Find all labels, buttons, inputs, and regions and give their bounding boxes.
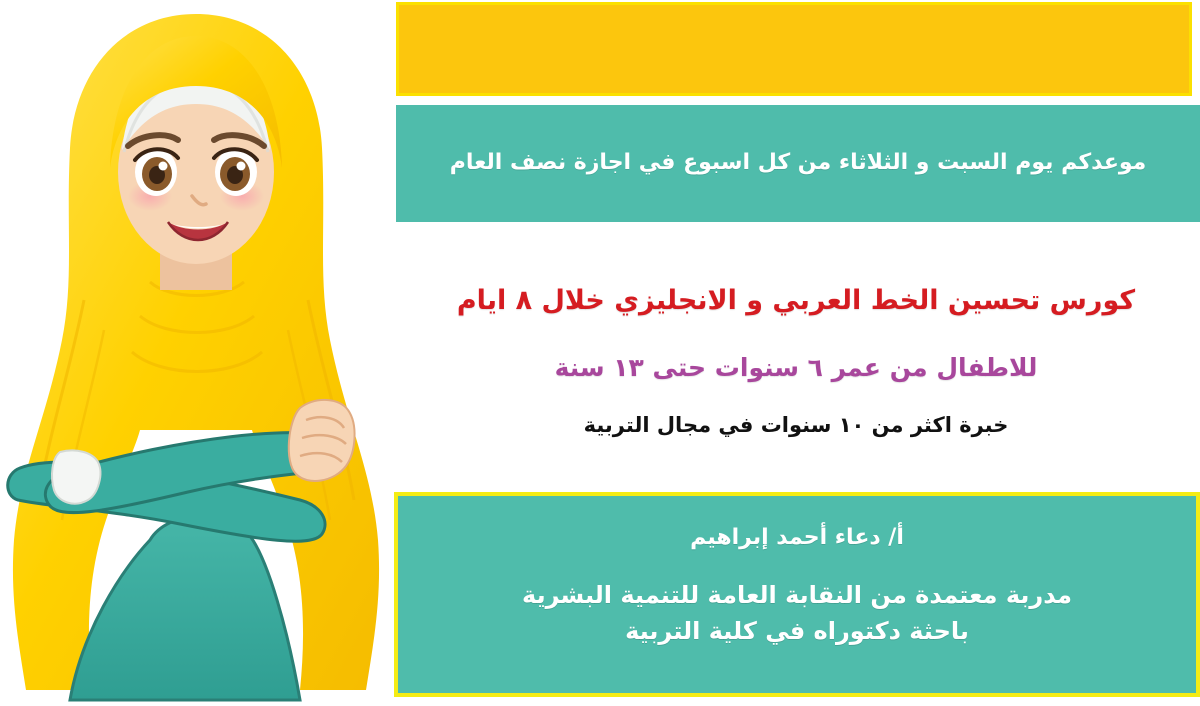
instructor-box: أ/ دعاء أحمد إبراهيم مدربة معتمدة من الن… xyxy=(394,492,1200,697)
hand xyxy=(289,400,355,481)
schedule-band: موعدكم يوم السبت و الثلاثاء من كل اسبوع … xyxy=(396,105,1200,222)
instructor-credential-2: باحثة دكتوراه في كلية التربية xyxy=(398,613,1196,649)
instructor-credential-1: مدربة معتمدة من النقابة العامة للتنمية ا… xyxy=(398,577,1196,613)
hijabi-woman-illustration xyxy=(0,0,392,706)
instructor-name: أ/ دعاء أحمد إبراهيم xyxy=(398,524,1196,553)
course-age-range: للاطفال من عمر ٦ سنوات حتى ١٣ سنة xyxy=(392,352,1200,383)
course-experience: خبرة اكثر من ١٠ سنوات في مجال التربية xyxy=(392,412,1200,439)
course-title: كورس تحسين الخط العربي و الانجليزي خلال … xyxy=(392,284,1200,318)
content-column: موعدكم يوم السبت و الثلاثاء من كل اسبوع … xyxy=(392,0,1200,706)
gold-banner xyxy=(396,2,1192,96)
schedule-text: موعدكم يوم السبت و الثلاثاء من كل اسبوع … xyxy=(440,149,1157,178)
poster-root: موعدكم يوم السبت و الثلاثاء من كل اسبوع … xyxy=(0,0,1200,706)
